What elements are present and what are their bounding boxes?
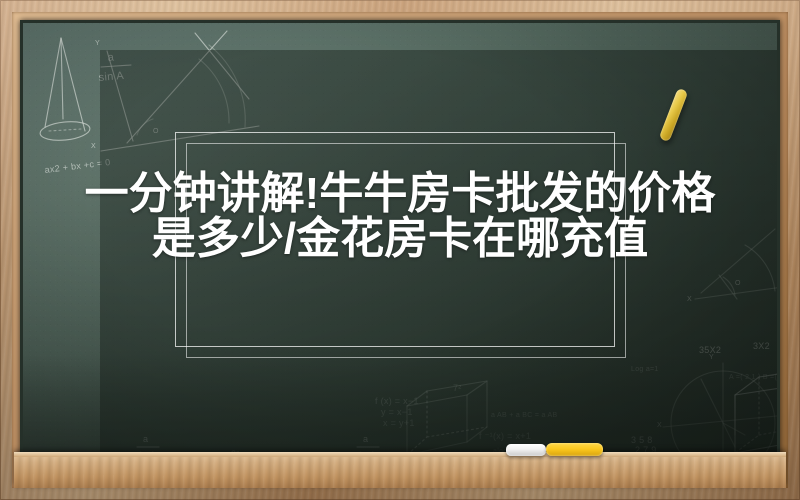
svg-text:O: O [735,280,741,287]
poster-canvas: a sin A ax2 + bx +c = 0 Y X [0,0,800,500]
page-title: 一分钟讲解!牛牛房卡批发的价格是多少/金花房卡在哪充值 [84,172,716,262]
svg-text:X: X [687,296,692,303]
seven-squared: 7² [453,383,462,393]
board-shadow-bottom [23,353,777,458]
cube-diagram-left [407,381,487,455]
ratio-35x2: 35X2 [699,345,721,355]
svg-text:sin A: sin A [98,70,125,84]
yellow-chalk-stick [546,443,603,456]
inverse-function: f ⁻¹(x) = x+1 [479,431,531,441]
svg-text:3 5 8: 3 5 8 [631,435,653,445]
svg-text:a: a [143,434,148,444]
formula-a-over-sinA-top: a sin A [98,51,131,84]
ratio-3x2: 3X2 [753,341,770,351]
svg-text:x = y+1: x = y+1 [383,418,415,428]
svg-text:Y: Y [95,40,100,47]
function-equations: f (x) = x−1 y = x−1 x = y+1 [375,396,419,428]
angle-diagram-top: Y X O [91,31,259,151]
svg-text:f (x) = x−1: f (x) = x−1 [375,396,419,406]
ab-bc-identity: a AB + a BC = a AB [491,412,558,419]
matrix-row: A =( 2 1 ) B =( 3 1 ) = ( 2 3 ) [729,374,777,381]
log-note: Log a=1 [631,366,659,373]
white-chalk-stick [506,444,546,456]
circle-diagram: Y X [657,354,777,458]
cone-diagram [39,38,91,143]
svg-text:O: O [153,128,159,135]
svg-text:a: a [363,434,368,444]
svg-text:X: X [91,143,96,150]
chalk-ledge [14,452,786,488]
svg-text:Y: Y [709,354,714,361]
svg-text:X: X [657,422,662,429]
ledge-lip [14,452,786,457]
svg-text:y = x−1: y = x−1 [381,407,413,417]
svg-text:a: a [107,51,115,64]
cube-diagram-right [735,365,777,453]
